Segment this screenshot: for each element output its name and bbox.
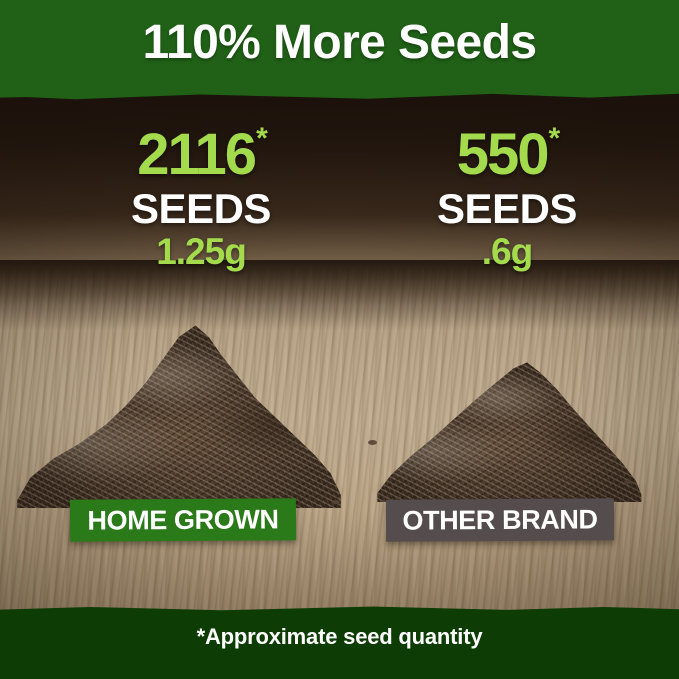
seed-count-number: 550 — [457, 122, 548, 187]
seed-count-unit: SEEDS — [66, 186, 336, 231]
vignette-overlay — [0, 0, 679, 679]
label-badge-home-grown: HOME GROWN — [70, 498, 296, 541]
seed-count-unit: SEEDS — [382, 186, 632, 231]
footnote-text: *Approximate seed quantity — [0, 624, 679, 650]
seed-count-value: 2116* — [137, 126, 265, 184]
seed-count-value: 550* — [457, 126, 557, 184]
infographic-poster: 110% More Seeds 2116* SEEDS 1.25g 550* S… — [0, 0, 679, 679]
asterisk-marker: * — [549, 122, 559, 155]
stat-block-home-grown: 2116* SEEDS 1.25g — [66, 126, 336, 273]
label-badge-other-brand: OTHER BRAND — [386, 498, 614, 541]
seed-weight-value: .6g — [382, 232, 632, 273]
stat-block-other-brand: 550* SEEDS .6g — [382, 126, 632, 273]
seed-weight-value: 1.25g — [66, 232, 336, 273]
seed-count-number: 2116 — [137, 122, 255, 187]
asterisk-marker: * — [256, 122, 266, 155]
page-title: 110% More Seeds — [0, 16, 679, 70]
